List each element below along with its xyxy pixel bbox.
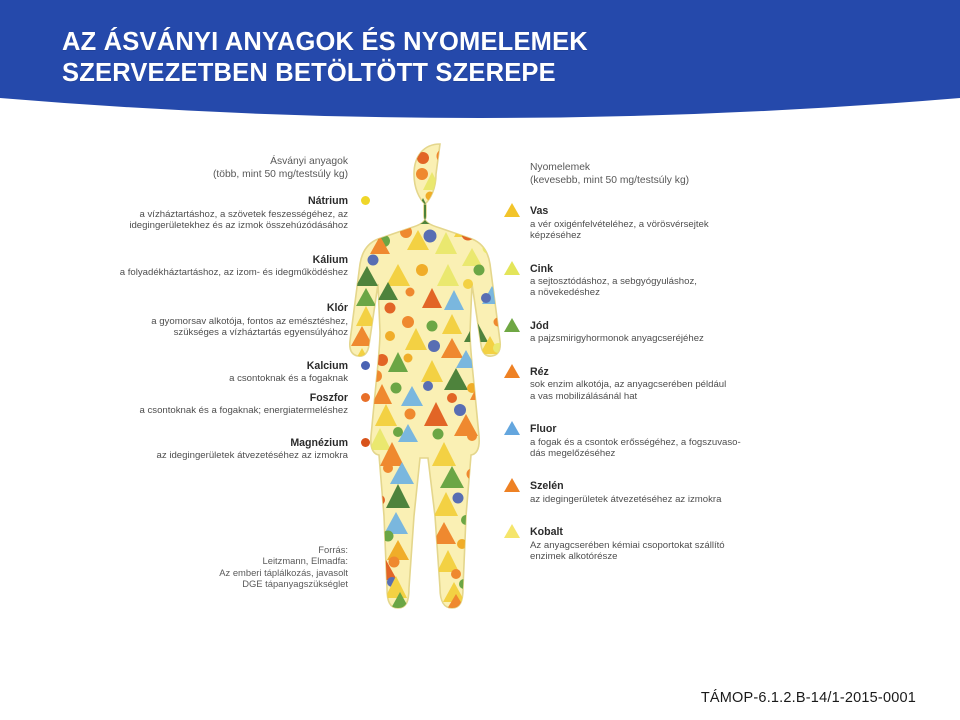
magnezium-label: Magnézium [92,437,348,449]
rez-label: Réz [530,366,840,378]
fluor-description: a fogak és a csontok erősségéhez, a fogs… [530,437,840,460]
klor-description: a gyomorsav alkotója, fontos az emésztés… [92,316,348,339]
legend-item-kobalt: Kobalt Az anyagcserében kémiai csoportok… [530,526,840,562]
legend-item-fluor: Fluor a fogak és a csontok erősségéhez, … [530,423,840,459]
cink-color-triangle [504,261,520,275]
cink-label: Cink [530,263,840,275]
legend-item-natrium: Nátrium a vízháztartáshoz, a szövetek fe… [92,195,348,231]
rez-description: sok enzim alkotója, az anyagcserében pél… [530,379,840,402]
kalcium-description: a csontoknak és a fogaknak [92,373,348,384]
legend-item-magnezium: Magnézium az idegingerületek átvezetéséh… [92,437,348,462]
natrium-description: a vízháztartáshoz, a szövetek feszességé… [92,209,348,232]
fluor-label: Fluor [530,423,840,435]
klor-label: Klór [92,302,348,314]
vas-description: a vér oxigénfelvételéhez, a vörösvérsejt… [530,219,840,242]
vas-color-triangle [504,203,520,217]
minerals-legend: Ásványi anyagok (több, mint 50 mg/testsú… [92,156,348,472]
project-identifier: TÁMOP-6.1.2.B-14/1-2015-0001 [701,690,916,706]
cink-description: a sejtosztódáshoz, a sebgyógyuláshoz, a … [530,276,840,299]
kobalt-label: Kobalt [530,526,840,538]
kobalt-description: Az anyagcserében kémiai csoportokat szál… [530,540,840,563]
jod-label: Jód [530,320,840,332]
minerals-legend-heading: Ásványi anyagok (több, mint 50 mg/testsú… [92,156,348,181]
trace-elements-legend: Nyomelemek (kevesebb, mint 50 mg/testsúl… [530,162,840,584]
legend-item-rez: Réz sok enzim alkotója, az anyagcserében… [530,366,840,402]
nutrient-marker-cluster [351,150,503,615]
foszfor-description: a csontoknak és a fogaknak; energiaterme… [92,405,348,416]
slide-content: Ásványi anyagok (több, mint 50 mg/testsú… [0,124,960,720]
szelen-color-triangle [504,478,520,492]
szelen-description: az idegingerületek átvezetéséhez az izmo… [530,494,840,505]
page-title: AZ ÁSVÁNYI ANYAGOK ÉS NYOMELEMEK SZERVEZ… [62,27,862,89]
vas-label: Vas [530,205,840,217]
magnezium-description: az idegingerületek átvezetéséhez az izmo… [92,450,348,461]
kobalt-color-triangle [504,524,520,538]
jod-description: a pajzsmirigyhormonok anyagcseréjéhez [530,333,840,344]
rez-color-triangle [504,364,520,378]
legend-item-kalcium: Kalcium a csontoknak és a fogaknak [92,360,348,385]
natrium-label: Nátrium [92,195,348,207]
slide-header: AZ ÁSVÁNYI ANYAGOK ÉS NYOMELEMEK SZERVEZ… [0,0,960,124]
kalium-description: a folyadékháztartáshoz, az izom- és ideg… [92,267,348,278]
infographic-figure: Ásványi anyagok (több, mint 50 mg/testsú… [92,136,868,646]
legend-item-cink: Cink a sejtosztódáshoz, a sebgyógyulásho… [530,263,840,299]
szelen-label: Szelén [530,480,840,492]
trace-elements-legend-heading: Nyomelemek (kevesebb, mint 50 mg/testsúl… [530,162,840,187]
fluor-color-triangle [504,421,520,435]
legend-item-szelen: Szelén az idegingerületek átvezetéséhez … [530,480,840,505]
legend-item-foszfor: Foszfor a csontoknak és a fogaknak; ener… [92,392,348,417]
kalium-label: Kálium [92,254,348,266]
jod-color-triangle [504,318,520,332]
source-note: Forrás: Leitzmann, Elmadfa: Az emberi tá… [150,544,348,589]
legend-item-kalium: Kálium a folyadékháztartáshoz, az izom- … [92,254,348,279]
legend-item-klor: Klór a gyomorsav alkotója, fontos az emé… [92,302,348,338]
legend-item-jod: Jód a pajzsmirigyhormonok anyagcseréjéhe… [530,320,840,345]
foszfor-label: Foszfor [92,392,348,404]
legend-item-vas: Vas a vér oxigénfelvételéhez, a vörösvér… [530,205,840,241]
kalcium-label: Kalcium [92,360,348,372]
